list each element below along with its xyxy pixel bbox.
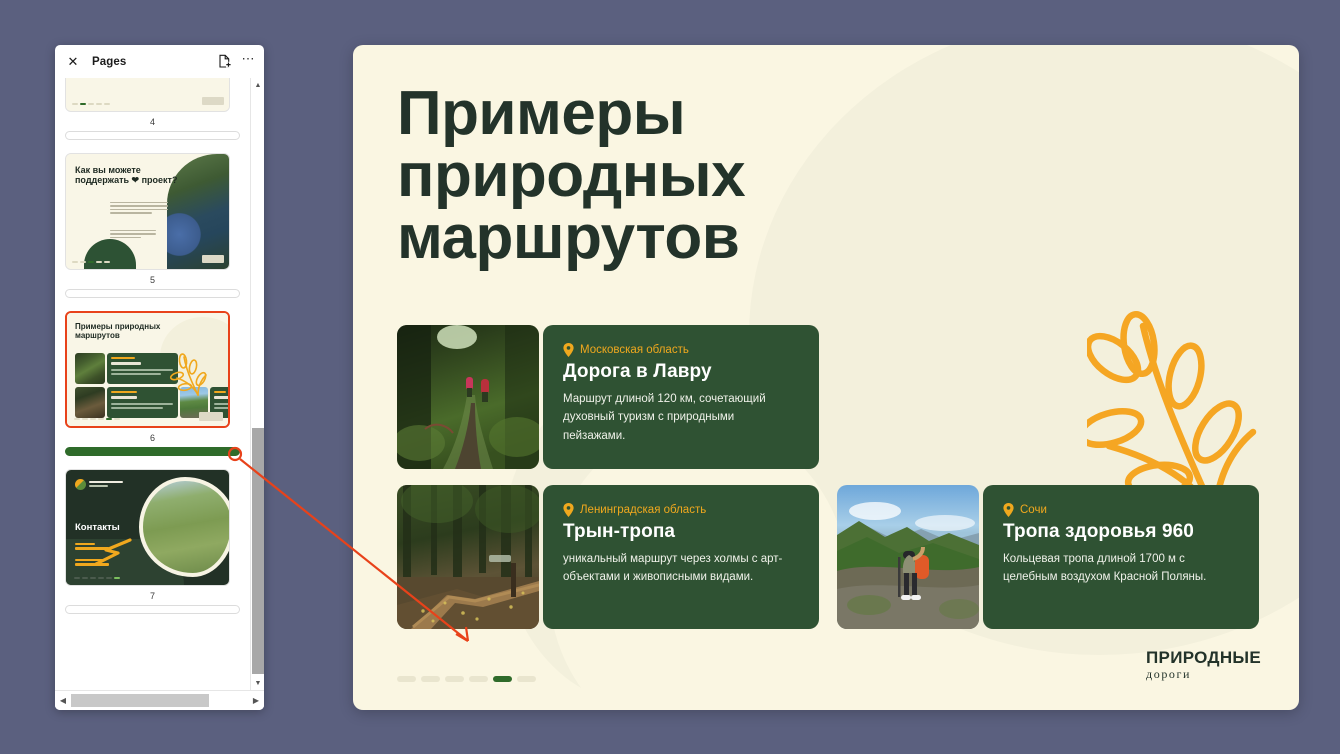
- progress-dash: [421, 676, 440, 682]
- forest-trail-hikers-photo: [397, 325, 539, 469]
- pages-panel-header: ✕ Pages ⋯: [55, 45, 264, 78]
- route-name: Тропа здоровья 960: [1003, 521, 1239, 543]
- routes-grid: Московская область Дорога в Лавру Маршру…: [397, 325, 1257, 645]
- route-region-label: Ленинградская область: [580, 504, 706, 516]
- logo-wordmark: [89, 481, 123, 489]
- horizontal-scrollbar-thumb[interactable]: [71, 694, 209, 707]
- thumb-logo: [75, 479, 123, 490]
- route-description: Маршрут длиной 120 км, сочетающий духовн…: [563, 390, 799, 445]
- scroll-right-icon[interactable]: ▶: [248, 693, 264, 709]
- thumb-canvas: Примеры природных маршрутов: [67, 313, 228, 426]
- brand-logo-main: ПРИРОДНЫЕ: [1146, 649, 1261, 666]
- route-item-3[interactable]: Сочи Тропа здоровья 960 Кольцевая тропа …: [837, 485, 1259, 629]
- slide-progress-bar[interactable]: [65, 447, 240, 456]
- route-region: Московская область: [563, 343, 799, 357]
- route-name: Дорога в Лавру: [563, 361, 799, 383]
- thumb-canvas: Контакты: [66, 470, 229, 585]
- list-item[interactable]: Как вы можете поддержать ❤ проект?: [65, 153, 240, 298]
- thumb-canvas: [66, 78, 229, 111]
- logo-mark-icon: [75, 479, 86, 490]
- horizontal-scrollbar-track[interactable]: [71, 694, 248, 707]
- list-item[interactable]: Контакты: [65, 469, 240, 614]
- progress-dash: [517, 676, 536, 682]
- more-options-icon[interactable]: ⋯: [242, 56, 256, 67]
- route-description: уникальный маршрут через холмы с арт-объ…: [563, 550, 799, 587]
- pages-panel-body: 4 Как вы можете поддержать ❤ проект?: [55, 78, 264, 710]
- slide-progress-bar[interactable]: [65, 605, 240, 614]
- thumbnail-list[interactable]: 4 Как вы можете поддержать ❤ проект?: [55, 78, 250, 690]
- thumb-logo: [202, 97, 224, 105]
- thumb-progress: [74, 577, 120, 579]
- thumb-shape: [84, 239, 136, 269]
- slide-progress-bar[interactable]: [65, 289, 240, 298]
- vertical-scrollbar-thumb[interactable]: [252, 428, 264, 674]
- slide-number: 7: [65, 591, 240, 601]
- add-page-icon[interactable]: [216, 53, 233, 70]
- thumb-title: Как вы можете поддержать ❤ проект?: [75, 166, 195, 185]
- slide-number: 5: [65, 275, 240, 285]
- slide-number: 6: [65, 433, 240, 443]
- slide-thumbnail-7[interactable]: Контакты: [65, 469, 230, 586]
- progress-dash: [469, 676, 488, 682]
- pages-panel: ✕ Pages ⋯: [55, 45, 264, 710]
- progress-dash-active: [493, 676, 512, 682]
- route-name: Трын-тропа: [563, 521, 799, 543]
- lightning-decor-icon: [94, 537, 146, 567]
- thumb-progress: [72, 103, 110, 105]
- slide-number: 4: [65, 117, 240, 127]
- list-item[interactable]: Примеры природных маршрутов: [65, 311, 240, 456]
- close-icon[interactable]: ✕: [64, 53, 82, 71]
- thumb-photo-1: [75, 353, 105, 384]
- thumb-body-text: [110, 202, 168, 216]
- slide-thumbnail-4[interactable]: [65, 78, 230, 112]
- thumb-title: Примеры природных маршрутов: [75, 323, 185, 340]
- progress-dash: [445, 676, 464, 682]
- scroll-left-icon[interactable]: ◀: [55, 693, 71, 709]
- location-pin-icon: [563, 343, 574, 357]
- route-card-2: Ленинградская область Трын-тропа уникаль…: [543, 485, 819, 629]
- slide-progress-indicator: [397, 676, 536, 682]
- thumb-photo-2: [75, 387, 105, 418]
- pages-panel-actions: ⋯: [216, 53, 256, 70]
- brand-logo: ПРИРОДНЫЕ дороги: [1146, 649, 1261, 682]
- page-title: Примеры природных маршрутов: [397, 83, 1017, 269]
- horizontal-scrollbar[interactable]: ◀ ▶: [55, 690, 264, 710]
- thumb-progress: [74, 418, 120, 420]
- progress-dash: [397, 676, 416, 682]
- app-root: ✕ Pages ⋯: [0, 0, 1340, 754]
- wheat-sprig-icon: [168, 353, 208, 397]
- thumb-logo: [202, 255, 224, 263]
- slide-thumbnail-5[interactable]: Как вы можете поддержать ❤ проект?: [65, 153, 230, 270]
- location-pin-icon: [1003, 503, 1014, 517]
- pages-panel-title: Pages: [92, 56, 126, 68]
- route-region-label: Московская область: [580, 344, 689, 356]
- route-item-2[interactable]: Ленинградская область Трын-тропа уникаль…: [397, 485, 819, 629]
- thumb-body-text-2: [110, 230, 156, 240]
- route-region: Ленинградская область: [563, 503, 799, 517]
- routes-row-2: Ленинградская область Трын-тропа уникаль…: [397, 485, 1257, 629]
- thumb-progress: [72, 261, 110, 263]
- route-item-1[interactable]: Московская область Дорога в Лавру Маршру…: [397, 325, 819, 469]
- routes-row-1: Московская область Дорога в Лавру Маршру…: [397, 325, 1257, 469]
- route-card-1: Московская область Дорога в Лавру Маршру…: [543, 325, 819, 469]
- route-card-3: Сочи Тропа здоровья 960 Кольцевая тропа …: [983, 485, 1259, 629]
- thumb-title: Контакты: [75, 522, 120, 533]
- vertical-scrollbar[interactable]: ▲ ▼: [250, 78, 264, 690]
- list-item[interactable]: 4: [65, 78, 240, 140]
- location-pin-icon: [563, 503, 574, 517]
- forest-boardwalk-photo: [397, 485, 539, 629]
- brand-logo-sub: дороги: [1146, 667, 1261, 682]
- route-region-label: Сочи: [1020, 504, 1047, 516]
- scroll-down-icon[interactable]: ▼: [251, 676, 264, 690]
- route-description: Кольцевая тропа длиной 1700 м с целебным…: [1003, 550, 1239, 587]
- slide-thumbnail-6[interactable]: Примеры природных маршрутов: [65, 311, 230, 428]
- thumb-canvas: Как вы можете поддержать ❤ проект?: [66, 154, 229, 269]
- thumb-logo: [199, 412, 223, 421]
- slide-progress-bar[interactable]: [65, 131, 240, 140]
- mountain-hiker-photo: [837, 485, 979, 629]
- scroll-up-icon[interactable]: ▲: [251, 78, 264, 92]
- slide-canvas[interactable]: Примеры природных маршрутов: [353, 45, 1299, 710]
- route-region: Сочи: [1003, 503, 1239, 517]
